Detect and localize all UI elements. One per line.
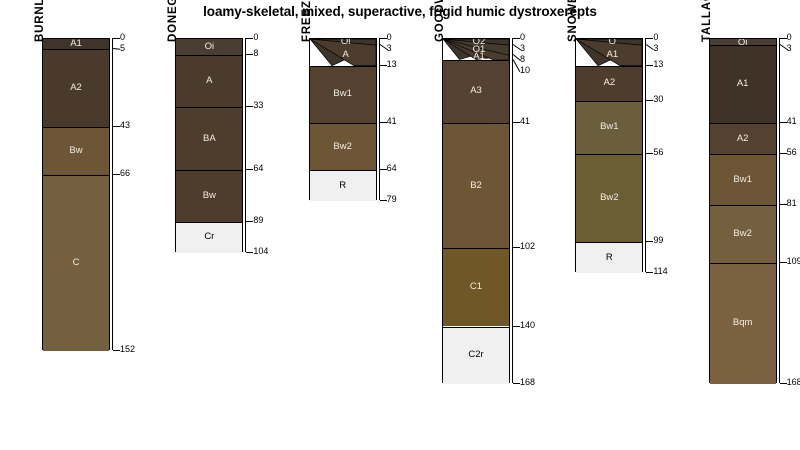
depth-axis <box>379 38 380 200</box>
horizon-label: C <box>43 258 109 268</box>
depth-tick-leader <box>113 174 120 175</box>
depth-tick-label: 140 <box>520 321 535 330</box>
depth-tick-leader <box>380 38 387 39</box>
horizon-divider <box>176 170 242 171</box>
depth-tick-leader <box>246 169 253 170</box>
horizon-divider <box>443 327 509 328</box>
horizon-block: A1 <box>710 45 776 123</box>
horizon-label: Bw1 <box>576 122 642 132</box>
profile-name-label: DONEGAN <box>167 0 179 42</box>
horizon-label: A <box>176 76 242 86</box>
horizon-block: Cr <box>176 222 242 253</box>
depth-tick-leader <box>246 38 253 39</box>
horizon-label: A2 <box>576 78 642 88</box>
depth-tick-leader <box>513 326 520 327</box>
depth-tick-label: 66 <box>120 169 130 178</box>
horizon-label: A1 <box>43 39 109 49</box>
horizon-block: Bw1 <box>710 154 776 205</box>
depth-tick-label: 104 <box>253 247 268 256</box>
depth-tick-leader <box>513 247 520 248</box>
surface-wedge-group: OA1 <box>576 39 642 66</box>
horizon-label: Bw <box>176 191 242 201</box>
horizon-block: BA <box>176 107 242 171</box>
horizon-block: R <box>576 242 642 273</box>
horizon-label: C1 <box>443 282 509 292</box>
horizon-block: A2 <box>710 123 776 154</box>
horizon-label: C2r <box>443 350 509 360</box>
horizon-divider <box>310 66 376 67</box>
depth-tick-leader <box>380 65 387 66</box>
horizon-divider <box>310 170 376 171</box>
horizon-block: A1 <box>43 39 109 49</box>
horizon-label: BA <box>176 134 242 144</box>
depth-tick-leader <box>646 100 653 101</box>
horizon-block: Bqm <box>710 263 776 384</box>
surface-wedge-group: O2O1A1 <box>443 39 509 60</box>
horizon-label: Bw1 <box>710 175 776 185</box>
profile-name-label: SNOWBRIER <box>567 0 579 42</box>
horizon-divider <box>710 205 776 206</box>
depth-tick-leader <box>113 126 120 127</box>
depth-tick-label: 41 <box>787 117 797 126</box>
depth-tick-label: 89 <box>253 216 263 225</box>
depth-tick-label: 3 <box>520 44 525 53</box>
horizon-divider <box>576 101 642 102</box>
depth-tick-leader <box>513 122 520 123</box>
depth-tick-leader <box>246 252 253 253</box>
horizon-label: Oi <box>316 39 376 47</box>
horizon-label: A <box>316 50 376 60</box>
depth-tick-leader <box>780 383 787 384</box>
horizon-block: Bw2 <box>576 154 642 242</box>
horizon-block: A2 <box>43 49 109 127</box>
horizon-label: Bw2 <box>710 229 776 239</box>
horizon-block: Bw1 <box>310 66 376 124</box>
horizon-block: A3 <box>443 60 509 124</box>
profile-name-label: BURNLAKE <box>34 0 46 42</box>
depth-tick-leader <box>246 54 253 55</box>
horizon-divider <box>576 242 642 243</box>
depth-tick-label: 5 <box>120 44 125 53</box>
depth-tick-label: 102 <box>520 242 535 251</box>
horizon-divider <box>576 154 642 155</box>
depth-tick-label: 8 <box>520 55 525 64</box>
depth-tick-leader <box>246 221 253 222</box>
horizon-label: Bw2 <box>310 142 376 152</box>
depth-tick-label: 64 <box>253 164 263 173</box>
depth-tick-label: 64 <box>387 164 397 173</box>
depth-tick-leader <box>113 38 120 39</box>
horizon-block: A2 <box>576 66 642 101</box>
depth-tick-leader <box>113 350 120 351</box>
horizon-divider <box>710 123 776 124</box>
depth-tick-label: 43 <box>120 121 130 130</box>
profile-column: A2Bw1Bw2ROA1 <box>575 38 643 272</box>
horizon-divider <box>43 49 109 50</box>
horizon-label: A1 <box>710 79 776 89</box>
horizon-label: A3 <box>443 86 509 96</box>
depth-axis <box>779 38 780 383</box>
depth-tick-label: 168 <box>787 378 800 387</box>
soil-profile-plot: BURNLAKEA1A2BwC054366152DONEGANOiABABwCr… <box>0 38 800 438</box>
depth-tick-label: 114 <box>653 267 667 276</box>
depth-tick-label: 0 <box>387 33 392 42</box>
depth-tick-label: 13 <box>653 60 663 69</box>
depth-tick-label: 152 <box>120 345 135 354</box>
depth-tick-label: 0 <box>120 33 125 42</box>
horizon-block: C <box>43 175 109 352</box>
profile-name-label: GOODWIN <box>434 0 446 42</box>
depth-tick-label: 168 <box>520 378 535 387</box>
profile-column: OiABABwCr <box>175 38 243 252</box>
horizon-label: Cr <box>176 232 242 242</box>
horizon-block: B2 <box>443 123 509 248</box>
horizon-label: A1 <box>449 52 509 59</box>
depth-tick-leader <box>380 200 387 201</box>
depth-tick-label: 41 <box>387 117 397 126</box>
horizon-label: A1 <box>582 50 642 60</box>
depth-tick-leader <box>780 262 787 263</box>
profile-column: A1A2BwC <box>42 38 110 350</box>
depth-tick-label: 41 <box>520 117 530 126</box>
horizon-divider <box>710 45 776 46</box>
depth-tick-leader <box>646 153 653 154</box>
depth-tick-label: 0 <box>520 33 525 42</box>
horizon-block: R <box>310 170 376 201</box>
horizon-divider <box>443 248 509 249</box>
depth-tick-label: 3 <box>653 44 658 53</box>
depth-tick-leader <box>646 241 653 242</box>
horizon-label: O <box>582 39 642 47</box>
horizon-block: Bw <box>43 127 109 174</box>
profile-column: A3B2C1C2rO2O1A1 <box>442 38 510 383</box>
horizon-label: Bqm <box>710 318 776 328</box>
horizon-block: Bw1 <box>576 101 642 154</box>
depth-tick-label: 0 <box>253 33 258 42</box>
depth-tick-label: 33 <box>253 101 263 110</box>
horizon-block: C2r <box>443 327 509 385</box>
horizon-divider <box>43 175 109 176</box>
profile-name-label: FREEZEOUT <box>301 0 313 42</box>
surface-wedge-group: OiA <box>310 39 376 66</box>
horizon-block: Bw2 <box>310 123 376 170</box>
horizon-label: Bw2 <box>576 193 642 203</box>
horizon-block: Bw <box>176 170 242 221</box>
depth-tick-leader <box>646 65 653 66</box>
horizon-divider <box>43 127 109 128</box>
horizon-label: Oi <box>176 42 242 52</box>
page-title: loamy-skeletal, mixed, superactive, frig… <box>0 4 800 19</box>
depth-tick-label: 10 <box>520 66 530 75</box>
horizon-block: C1 <box>443 248 509 326</box>
depth-tick-label: 56 <box>787 148 797 157</box>
depth-tick-leader <box>513 38 520 39</box>
profile-name-label: TALLAC <box>701 0 713 42</box>
depth-tick-leader <box>380 122 387 123</box>
depth-axis <box>645 38 646 272</box>
horizon-divider <box>443 60 509 61</box>
depth-tick-label: 0 <box>787 33 792 42</box>
depth-tick-label: 8 <box>253 49 258 58</box>
depth-tick-leader <box>513 383 520 384</box>
depth-tick-leader <box>780 153 787 154</box>
depth-tick-leader <box>380 169 387 170</box>
depth-tick-label: 99 <box>653 236 663 245</box>
horizon-block: A <box>176 55 242 106</box>
depth-tick-label: 109 <box>787 257 800 266</box>
depth-tick-leader <box>780 204 787 205</box>
horizon-divider <box>710 154 776 155</box>
depth-tick-label: 13 <box>387 60 397 69</box>
horizon-divider <box>710 263 776 264</box>
horizon-label: R <box>310 181 376 191</box>
horizon-label: Bw1 <box>310 89 376 99</box>
depth-tick-leader <box>646 38 653 39</box>
horizon-label: A2 <box>710 134 776 144</box>
depth-axis <box>512 38 513 383</box>
depth-tick-label: 81 <box>787 199 797 208</box>
depth-tick-leader <box>646 272 653 273</box>
depth-axis <box>112 38 113 350</box>
horizon-divider <box>176 107 242 108</box>
horizon-block: Bw2 <box>710 205 776 263</box>
depth-tick-leader <box>113 48 120 50</box>
depth-tick-label: 56 <box>653 148 663 157</box>
horizon-block: Oi <box>176 39 242 55</box>
horizon-label: R <box>576 253 642 263</box>
horizon-divider <box>176 222 242 223</box>
depth-tick-leader <box>246 106 253 107</box>
horizon-label: A2 <box>43 83 109 93</box>
depth-tick-leader <box>780 122 787 123</box>
depth-tick-leader <box>780 38 787 39</box>
horizon-label: Bw <box>43 146 109 156</box>
horizon-label: B2 <box>443 181 509 191</box>
horizon-divider <box>443 123 509 124</box>
depth-tick-label: 30 <box>653 95 663 104</box>
horizon-divider <box>310 123 376 124</box>
profile-column: Bw1Bw2ROiA <box>309 38 377 200</box>
depth-tick-label: 0 <box>653 33 658 42</box>
profile-column: OiA1A2Bw1Bw2Bqm <box>709 38 777 383</box>
horizon-divider <box>576 66 642 67</box>
depth-tick-label: 79 <box>387 195 397 204</box>
horizon-divider <box>176 55 242 56</box>
